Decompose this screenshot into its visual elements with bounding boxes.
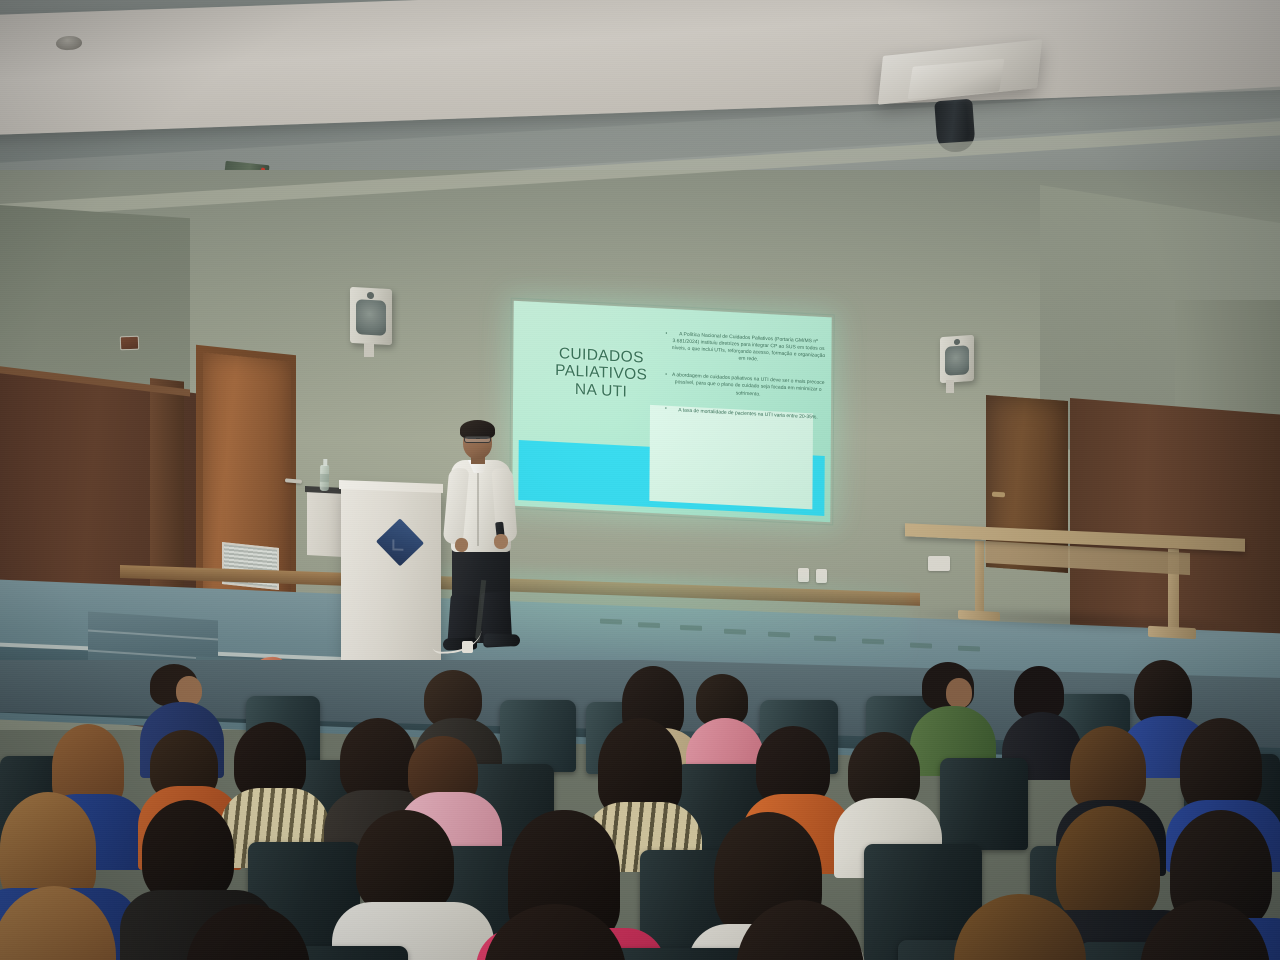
audience-person [930, 894, 1130, 960]
speaker-bracket-right [946, 380, 954, 393]
slide-bullet-2: A abordagem de cuidados paliativos na UT… [665, 372, 825, 402]
seat[interactable] [500, 700, 576, 772]
presenter-shirt-placket [477, 468, 479, 546]
slide-title: CUIDADOS PALIATIVOS NA UTI [531, 344, 671, 403]
person-hair [1140, 900, 1270, 960]
wall-outlet-c[interactable] [928, 556, 950, 571]
audience [0, 660, 1280, 960]
person-hair [0, 886, 116, 960]
presenter-hand-right [494, 534, 508, 549]
wall-speaker-left [350, 287, 392, 345]
wall-alarm-box [120, 336, 139, 351]
podium [341, 485, 441, 669]
cable-plug [462, 641, 473, 653]
person-hair [484, 904, 626, 960]
wall-speaker-right [940, 335, 974, 383]
audience-person [716, 900, 906, 960]
person-hair [186, 904, 310, 960]
audience-person [460, 904, 680, 960]
person-hair [736, 900, 864, 960]
slide-bullet-3: A taxa de mortalidade de pacientes na UT… [665, 406, 825, 421]
audience-person [690, 674, 758, 778]
person-hair [954, 894, 1086, 960]
person-head [946, 678, 972, 708]
slide-bullet-list: A Política Nacional de Cuidados Paliativ… [665, 331, 826, 435]
speaker-tweeter-icon [367, 292, 375, 299]
speaker-cone-icon [356, 300, 386, 336]
auditorium-photo: CUIDADOS PALIATIVOS NA UTI A Política Na… [0, 0, 1280, 960]
speaker-bracket-left [364, 343, 374, 357]
podium-logo-icon [376, 518, 424, 566]
door-handle-right[interactable] [992, 492, 1005, 498]
table-leg-left [975, 541, 984, 617]
audience-person [0, 886, 160, 960]
slide: CUIDADOS PALIATIVOS NA UTI A Política Na… [512, 301, 831, 523]
wall-outlet-a[interactable] [798, 568, 809, 582]
presenter-shoe-front [484, 633, 520, 646]
slide-bullet-1: A Política Nacional de Cuidados Paliativ… [665, 331, 825, 368]
water-bottle[interactable] [320, 465, 329, 491]
seat[interactable] [940, 758, 1028, 850]
speaker-tweeter-icon [954, 339, 960, 345]
speaker-cone-icon [945, 345, 969, 375]
audience-person [1122, 900, 1280, 960]
person-hair [356, 810, 454, 914]
wall-outlet-b[interactable] [816, 569, 827, 583]
audience-person [168, 904, 348, 960]
projection-screen: CUIDADOS PALIATIVOS NA UTI A Política Na… [512, 301, 831, 523]
side-stand [307, 491, 343, 557]
glasses-icon [464, 436, 491, 443]
